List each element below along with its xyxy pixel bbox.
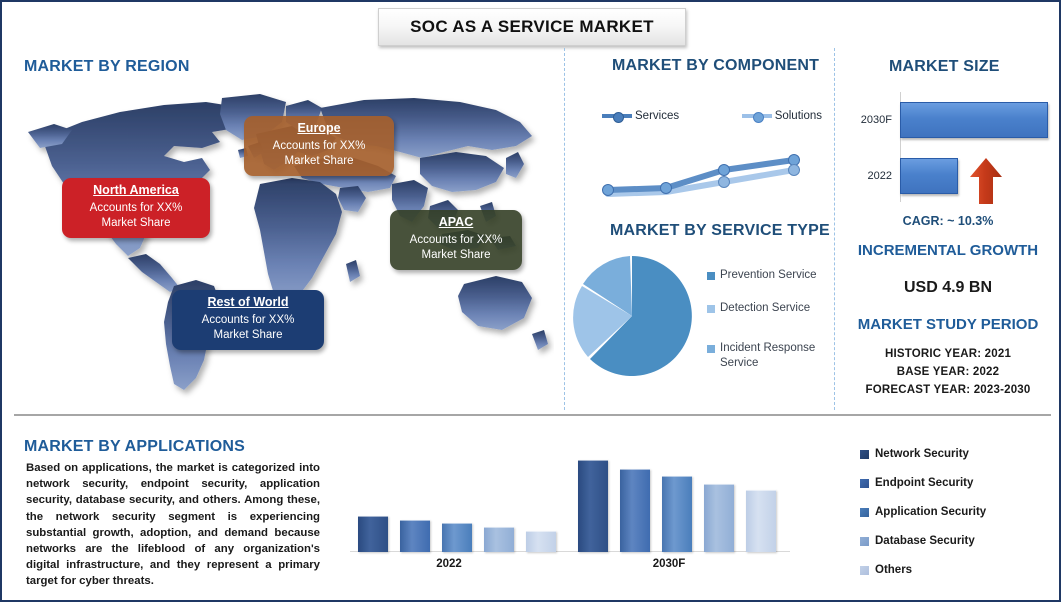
legend-item-prevention-service[interactable]: Prevention Service [707,268,837,283]
divider-horizontal [14,414,1051,416]
region-share-line2: Market Share [254,154,384,169]
bar-application-security [662,476,692,552]
legend-label: Application Security [875,506,986,518]
region-name: APAC [400,215,512,231]
bar-endpoint-security [620,469,650,552]
applications-category-2030f: 2030F [614,558,724,570]
legend-label: Detection Service [720,301,810,316]
component-line-chart [594,142,816,210]
legend-item-detection-service[interactable]: Detection Service [707,301,837,316]
section-title-component: MARKET BY COMPONENT [612,57,819,75]
region-name: North America [72,183,200,199]
market-size-category-label: 2030F [848,114,892,126]
historic-year: HISTORIC YEAR: 2021 [842,348,1054,360]
section-title-service-type: MARKET BY SERVICE TYPE [610,222,830,240]
section-title-region: MARKET BY REGION [24,58,190,76]
applications-description: Based on applications, the market is cat… [26,460,320,590]
legend-swatch-icon [860,566,869,575]
region-callout-rest-of-world[interactable]: Rest of World Accounts for XX% Market Sh… [172,290,324,350]
forecast-year: FORECAST YEAR: 2023-2030 [842,384,1054,396]
region-name: Rest of World [182,295,314,311]
region-callout-north-america[interactable]: North America Accounts for XX% Market Sh… [62,178,210,238]
market-size-bar-chart: 2030F 2022 [848,92,1048,202]
legend-item-solutions[interactable]: Solutions [742,110,822,122]
page-title-banner: SOC AS A SERVICE MARKET [378,8,686,46]
bar-database-security [704,484,734,552]
region-share-line1: Accounts for XX% [254,139,384,154]
bar-application-security [442,523,472,552]
region-share-line1: Accounts for XX% [72,201,200,216]
bar-network-security [578,460,608,552]
bar-others [746,490,776,552]
bar-group-2022 [358,516,556,552]
legend-label: Incident Response Service [720,341,837,370]
legend-swatch-icon [707,345,715,353]
legend-item-incident-response-service[interactable]: Incident Response Service [707,341,837,370]
market-size-row-2030f: 2030F [848,102,1048,138]
infographic-root: SOC AS A SERVICE MARKET MARKET BY REGION [0,0,1061,602]
legend-label: Solutions [775,110,822,122]
cagr-label: CAGR: ~ 10.3% [848,214,1048,228]
legend-swatch-icon [860,450,869,459]
legend-item-others[interactable]: Others [860,564,1050,576]
legend-item-database-security[interactable]: Database Security [860,535,1050,547]
legend-item-network-security[interactable]: Network Security [860,448,1050,460]
growth-arrow-up-icon [968,157,1004,205]
legend-item-endpoint-security[interactable]: Endpoint Security [860,477,1050,489]
market-study-period-title: MARKET STUDY PERIOD [842,316,1054,333]
bar-database-security [484,527,514,552]
legend-label: Prevention Service [720,268,817,283]
section-title-applications: MARKET BY APPLICATIONS [24,438,245,456]
legend-item-application-security[interactable]: Application Security [860,506,1050,518]
page-title: SOC AS A SERVICE MARKET [410,17,654,37]
legend-swatch-icon [860,479,869,488]
market-size-row-2022: 2022 [848,158,958,194]
legend-item-services[interactable]: Services [602,110,679,122]
legend-line-marker-icon [742,114,772,118]
applications-category-2022: 2022 [394,558,504,570]
region-callout-europe[interactable]: Europe Accounts for XX% Market Share [244,116,394,176]
bar-group-2030f [578,460,776,552]
legend-label: Services [635,110,679,122]
legend-line-marker-icon [602,114,632,118]
region-share-line1: Accounts for XX% [182,313,314,328]
incremental-growth-value: USD 4.9 BN [842,279,1054,297]
market-size-bar [900,158,958,194]
region-share-line2: Market Share [72,216,200,231]
region-share-line2: Market Share [182,328,314,343]
legend-swatch-icon [860,537,869,546]
bar-endpoint-security [400,520,430,552]
bar-network-security [358,516,388,552]
service-type-legend: Prevention Service Detection Service Inc… [707,268,837,389]
applications-bar-chart: 2022 2030F [350,450,790,570]
legend-label: Others [875,564,912,576]
region-share-line2: Market Share [400,248,512,263]
market-size-category-label: 2022 [848,170,892,182]
divider-vertical-left [564,48,565,410]
service-type-pie-chart [568,254,696,378]
base-year: BASE YEAR: 2022 [842,366,1054,378]
bar-others [526,531,556,552]
section-title-market-size: MARKET SIZE [889,58,1000,76]
legend-label: Endpoint Security [875,477,973,489]
legend-swatch-icon [707,272,715,280]
market-size-bar [900,102,1048,138]
legend-label: Database Security [875,535,975,547]
region-name: Europe [254,121,384,137]
region-callout-apac[interactable]: APAC Accounts for XX% Market Share [390,210,522,270]
legend-label: Network Security [875,448,969,460]
legend-swatch-icon [707,305,715,313]
region-share-line1: Accounts for XX% [400,233,512,248]
component-chart-legend: Services Solutions [602,110,822,122]
applications-legend: Network Security Endpoint Security Appli… [860,448,1050,593]
legend-swatch-icon [860,508,869,517]
incremental-growth-title: INCREMENTAL GROWTH [842,242,1054,259]
